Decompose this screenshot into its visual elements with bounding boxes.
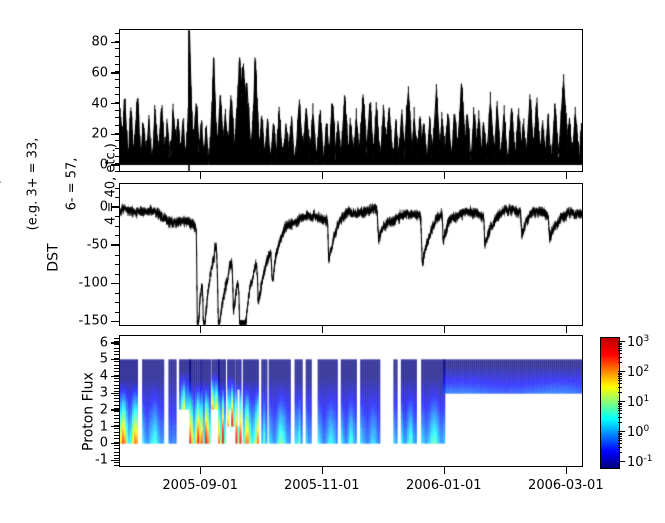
- pf-minor-tick: [114, 455, 119, 456]
- dst-minor-tick: [115, 216, 119, 217]
- colorbar-minor-tick: [618, 346, 622, 347]
- kp-minor-tick: [115, 33, 119, 34]
- kp-label-line-3: 6- = 57,: [66, 112, 79, 257]
- colorbar-minor-tick: [618, 357, 622, 358]
- dst-minor-tick: [115, 188, 119, 189]
- pf-minor-tick: [114, 378, 119, 379]
- dst-axis-label: DST: [35, 237, 74, 297]
- colorbar-minor-tick: [618, 422, 622, 423]
- kp-x-tickmark-2: [444, 172, 445, 179]
- dst-minor-tick: [115, 226, 119, 227]
- pf-minor-tick: [114, 452, 119, 453]
- dst-x-tickmark-0: [200, 326, 201, 333]
- colorbar-ticklabel-1e3: 103: [627, 333, 649, 349]
- panel-dst: [119, 183, 583, 326]
- pf-tickmark-0: [111, 443, 119, 444]
- x-ticklabel-2005-09-01: 2005-09-01: [162, 479, 238, 492]
- dst-x-tickmark-2: [444, 326, 445, 333]
- kp-x-tickmark-3: [566, 172, 567, 179]
- dst-minor-tick: [115, 312, 119, 313]
- pf-minor-tick: [114, 398, 119, 399]
- kp-label-line-1: Kp: [0, 112, 1, 257]
- kp-ticklabel-80: 80: [70, 36, 108, 49]
- colorbar-minor-tick: [618, 434, 622, 435]
- pf-tickmark-6: [111, 342, 119, 343]
- pf-minor-tick: [114, 395, 119, 396]
- dst-tickmark--100: [111, 283, 119, 284]
- pf-minor-tick: [114, 438, 119, 439]
- panel-proton-flux: [119, 335, 583, 467]
- dst-minor-tick: [115, 274, 119, 275]
- pf-minor-tick: [114, 371, 119, 372]
- dst-minor-tick: [115, 293, 119, 294]
- x-ticklabel-2005-11-01: 2005-11-01: [284, 479, 360, 492]
- pf-minor-tick: [114, 415, 119, 416]
- colorbar-minor-tick: [618, 353, 622, 354]
- pf-minor-tick: [114, 428, 119, 429]
- colorbar-minor-tick: [618, 350, 622, 351]
- pf-tickmark-2: [111, 409, 119, 410]
- pf-minor-tick: [114, 338, 119, 339]
- dst-minor-tick: [115, 264, 119, 265]
- colorbar-minor-tick: [618, 410, 622, 411]
- dst-x-tickmark-1: [322, 326, 323, 333]
- colorbar-minor-tick: [618, 374, 622, 375]
- colorbar-ticklabel-1e1: 101: [627, 393, 649, 409]
- colorbar-minor-tick: [618, 362, 622, 363]
- pf-minor-tick: [114, 351, 119, 352]
- colorbar-minor-tick: [618, 344, 622, 345]
- colorbar-minor-tick: [618, 383, 622, 384]
- kp-minor-tick: [115, 94, 119, 95]
- colorbar-minor-tick: [618, 378, 622, 379]
- kp-minor-tick: [115, 71, 119, 72]
- colorbar-ticklabel-1e0: 100: [627, 423, 649, 439]
- pf-minor-tick: [114, 432, 119, 433]
- pf-minor-tick: [114, 341, 119, 342]
- pf-minor-tick: [114, 405, 119, 406]
- proton-flux-axis-label: Proton Flux: [70, 366, 109, 476]
- kp-minor-tick: [115, 79, 119, 80]
- colorbar-minor-tick: [618, 392, 622, 393]
- dst-x-tickmark-3: [566, 326, 567, 333]
- pf-tickmark-3: [111, 393, 119, 394]
- pf-minor-tick: [114, 465, 119, 466]
- pf-tickmark-5: [111, 359, 119, 360]
- colorbar-minor-tick: [618, 452, 622, 453]
- pf-minor-tick: [114, 458, 119, 459]
- pf-minor-tick: [114, 385, 119, 386]
- x-ticklabel-2006-01-01: 2006-01-01: [406, 479, 482, 492]
- kp-minor-tick: [115, 64, 119, 65]
- dst-minor-tick: [115, 197, 119, 198]
- pf-minor-tick: [114, 435, 119, 436]
- dst-label-text: DST: [46, 243, 62, 271]
- kp-minor-tick: [115, 48, 119, 49]
- pf-minor-tick: [114, 462, 119, 463]
- kp-x-tickmark-1: [322, 172, 323, 179]
- pf-ticklabel-6: 6: [78, 336, 108, 349]
- colorbar-minor-tick: [618, 376, 622, 377]
- pf-minor-tick: [114, 344, 119, 345]
- pf-x-tickmark-1: [322, 467, 323, 474]
- kp-label-line-2: (e.g. 3+ = 33,: [27, 112, 40, 257]
- x-ticklabel-2006-03-01: 2006-03-01: [528, 479, 604, 492]
- colorbar-minor-tick: [618, 440, 622, 441]
- pf-minor-tick: [114, 445, 119, 446]
- pf-minor-tick: [114, 358, 119, 359]
- pf-minor-tick: [114, 375, 119, 376]
- kp-minor-tick: [115, 102, 119, 103]
- pf-minor-tick: [114, 401, 119, 402]
- colorbar-minor-tick: [618, 433, 622, 434]
- colorbar-minor-tick: [618, 403, 622, 404]
- colorbar-minor-tick: [618, 447, 622, 448]
- kp-tickmark-40: [111, 103, 119, 104]
- pf-minor-tick: [114, 348, 119, 349]
- pf-minor-tick: [114, 411, 119, 412]
- pf-minor-tick: [114, 365, 119, 366]
- dst-ticklabel-0: 0: [62, 200, 108, 213]
- panel-kp: [119, 29, 583, 172]
- dst-minor-tick: [115, 255, 119, 256]
- colorbar-minor-tick: [618, 438, 622, 439]
- pf-x-tickmark-3: [566, 467, 567, 474]
- colorbar-minor-tick: [618, 380, 622, 381]
- pf-x-tickmark-2: [444, 467, 445, 474]
- pf-minor-tick: [114, 408, 119, 409]
- dst-minor-tick: [115, 302, 119, 303]
- pf-minor-tick: [114, 442, 119, 443]
- dst-tickmark--50: [111, 244, 119, 245]
- colorbar-minor-tick: [618, 404, 622, 405]
- pf-tickmark-4: [111, 376, 119, 377]
- kp-timeseries-plot: [120, 30, 582, 171]
- pf-minor-tick: [114, 361, 119, 362]
- kp-minor-tick: [115, 56, 119, 57]
- proton-flux-label-text: Proton Flux: [81, 372, 97, 451]
- kp-minor-tick: [115, 87, 119, 88]
- pf-minor-tick: [114, 448, 119, 449]
- pf-minor-tick: [114, 422, 119, 423]
- proton-flux-spectrogram: [120, 336, 582, 466]
- kp-x-tickmark-0: [200, 172, 201, 179]
- pf-minor-tick: [114, 418, 119, 419]
- colorbar-minor-tick: [618, 408, 622, 409]
- dst-timeseries-plot: [120, 184, 582, 325]
- colorbar-gradient: [600, 337, 620, 469]
- pf-minor-tick: [114, 425, 119, 426]
- colorbar-minor-tick: [618, 387, 622, 388]
- colorbar-minor-tick: [618, 373, 622, 374]
- dst-tickmark--150: [111, 321, 119, 322]
- pf-minor-tick: [114, 381, 119, 382]
- colorbar-ticklabel-1e2: 102: [627, 363, 649, 379]
- pf-minor-tick: [114, 368, 119, 369]
- colorbar-minor-tick: [618, 343, 622, 344]
- kp-tickmark-60: [111, 72, 119, 73]
- kp-ticklabel-60: 60: [70, 66, 108, 79]
- colorbar-minor-tick: [618, 417, 622, 418]
- colorbar-minor-tick: [618, 436, 622, 437]
- dst-minor-tick: [115, 235, 119, 236]
- figure-canvas: 020406080 Kp (e.g. 3+ = 33, 6- = 57, 4 =…: [0, 0, 665, 523]
- kp-minor-tick: [115, 41, 119, 42]
- dst-tickmark-0: [111, 206, 119, 207]
- pf-x-tickmark-0: [200, 467, 201, 474]
- kp-tickmark-80: [111, 42, 119, 43]
- pf-minor-tick: [114, 388, 119, 389]
- dst-ticklabel--150: -150: [62, 315, 108, 328]
- pf-tickmark-1: [111, 426, 119, 427]
- pf-tickmark--1: [111, 460, 119, 461]
- kp-ticklabel-40: 40: [70, 97, 108, 110]
- colorbar-ticklabel-1e-1: 10-1: [627, 453, 653, 469]
- colorbar: [600, 337, 618, 467]
- pf-minor-tick: [114, 391, 119, 392]
- colorbar-minor-tick: [618, 413, 622, 414]
- colorbar-minor-tick: [618, 443, 622, 444]
- pf-ticklabel-5: 5: [78, 353, 108, 366]
- colorbar-minor-tick: [618, 348, 622, 349]
- colorbar-tickmark--1: [618, 461, 625, 462]
- pf-minor-tick: [114, 354, 119, 355]
- colorbar-minor-tick: [618, 406, 622, 407]
